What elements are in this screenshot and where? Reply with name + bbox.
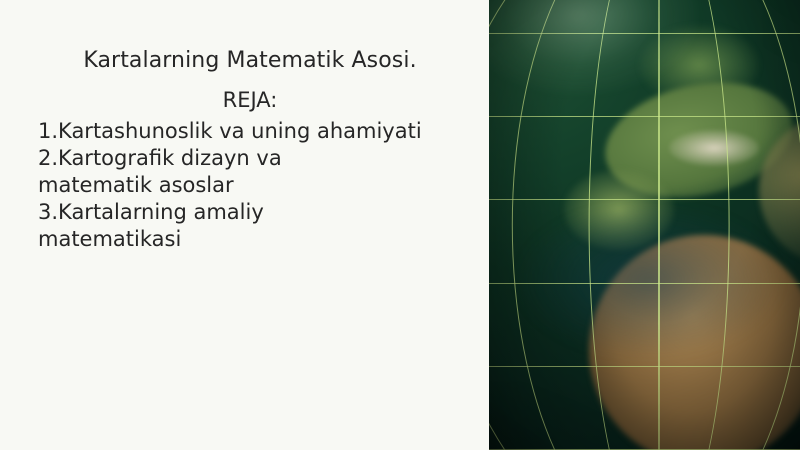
- agenda-label: REJA:: [0, 88, 500, 112]
- agenda-list: 1.Kartashunoslik va uning ahamiyati 2.Ka…: [38, 118, 518, 252]
- list-item: 2.Kartografik dizayn va matematik asosla…: [38, 145, 518, 199]
- page-title: Kartalarning Matematik Asosi.: [0, 48, 500, 73]
- globe-limb-shading: [489, 0, 800, 450]
- list-item: 1.Kartashunoslik va uning ahamiyati: [38, 118, 518, 145]
- slide: Kartalarning Matematik Asosi. REJA: 1.Ka…: [0, 0, 800, 450]
- globe-image-pane: [489, 0, 800, 450]
- globe-sphere: [489, 0, 800, 450]
- list-item: 3.Kartalarning amaliy matematikasi: [38, 199, 518, 253]
- text-pane: Kartalarning Matematik Asosi. REJA: 1.Ka…: [0, 0, 500, 450]
